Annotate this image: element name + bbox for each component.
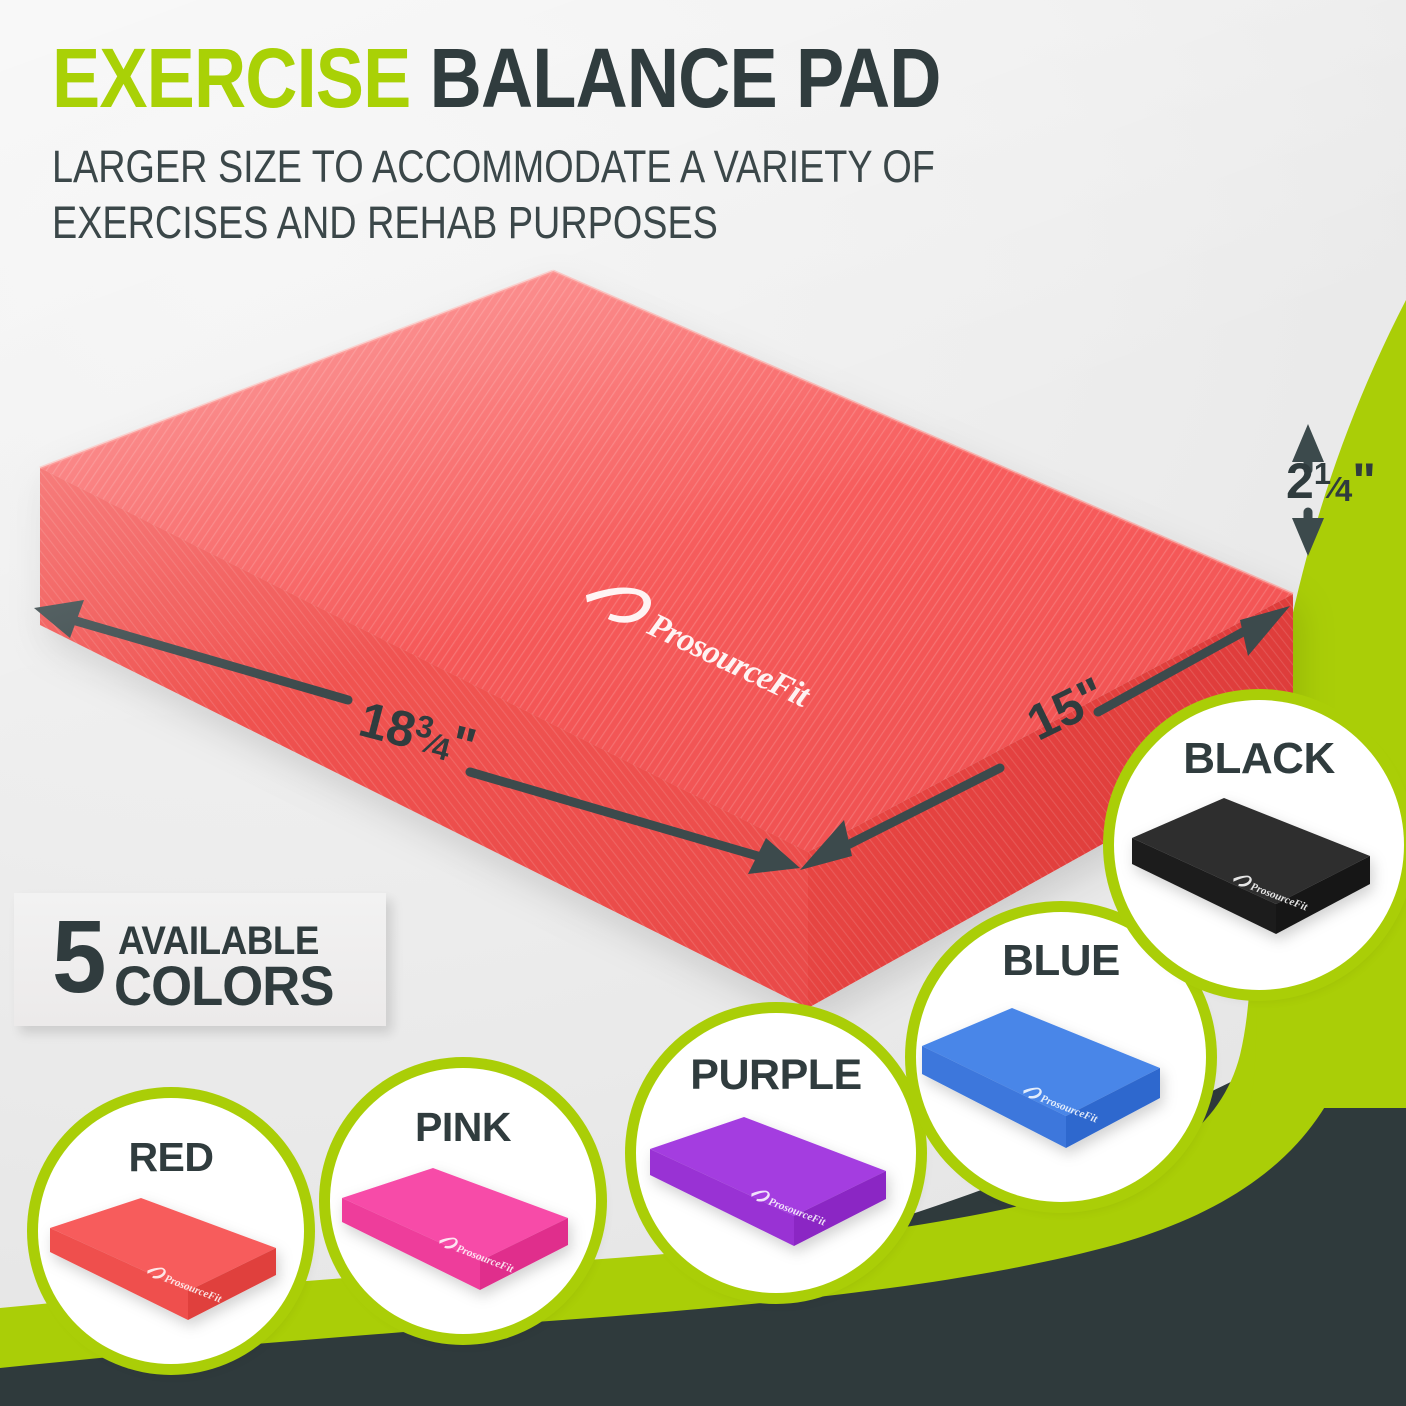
headline-block: EXERCISE BALANCE PAD LARGER SIZE TO ACCO… — [52, 38, 1112, 249]
color-option-pink[interactable]: PINK ProsourceFit — [330, 1068, 596, 1334]
infographic-canvas: ProsourceFit EXERCISE BALANCE PAD LARG — [0, 0, 1406, 1406]
color-option-purple[interactable]: PURPLE ProsourceFit — [636, 1013, 916, 1293]
mini-pad-pink: ProsourceFit — [330, 1068, 596, 1334]
height-denominator: 4 — [1335, 473, 1352, 508]
mini-pad-black: ProsourceFit — [1114, 700, 1404, 990]
subtitle-line-1: LARGER SIZE TO ACCOMMODATE A VARIETY OF — [52, 141, 942, 193]
page-title: EXERCISE BALANCE PAD — [52, 38, 964, 119]
color-option-black[interactable]: BLACK ProsourceFit — [1114, 700, 1404, 990]
mini-pad-purple: ProsourceFit — [636, 1013, 916, 1293]
dimension-label-height: 21⁄4" — [1286, 452, 1376, 510]
color-option-red[interactable]: RED ProsourceFit — [38, 1098, 304, 1364]
height-unit: " — [1352, 453, 1376, 509]
available-colors-badge: 5 AVAILABLE COLORS — [14, 893, 386, 1026]
colors-word-colors: COLORS — [114, 953, 334, 1018]
title-accent-word: EXERCISE — [52, 31, 410, 125]
title-rest: BALANCE PAD — [430, 31, 941, 125]
colors-count: 5 — [52, 905, 106, 1008]
height-numerator: 1 — [1314, 456, 1331, 491]
mini-pad-red: ProsourceFit — [38, 1098, 304, 1364]
subtitle-line-2: EXERCISES AND REHAB PURPOSES — [52, 197, 942, 249]
height-whole: 2 — [1286, 453, 1314, 509]
